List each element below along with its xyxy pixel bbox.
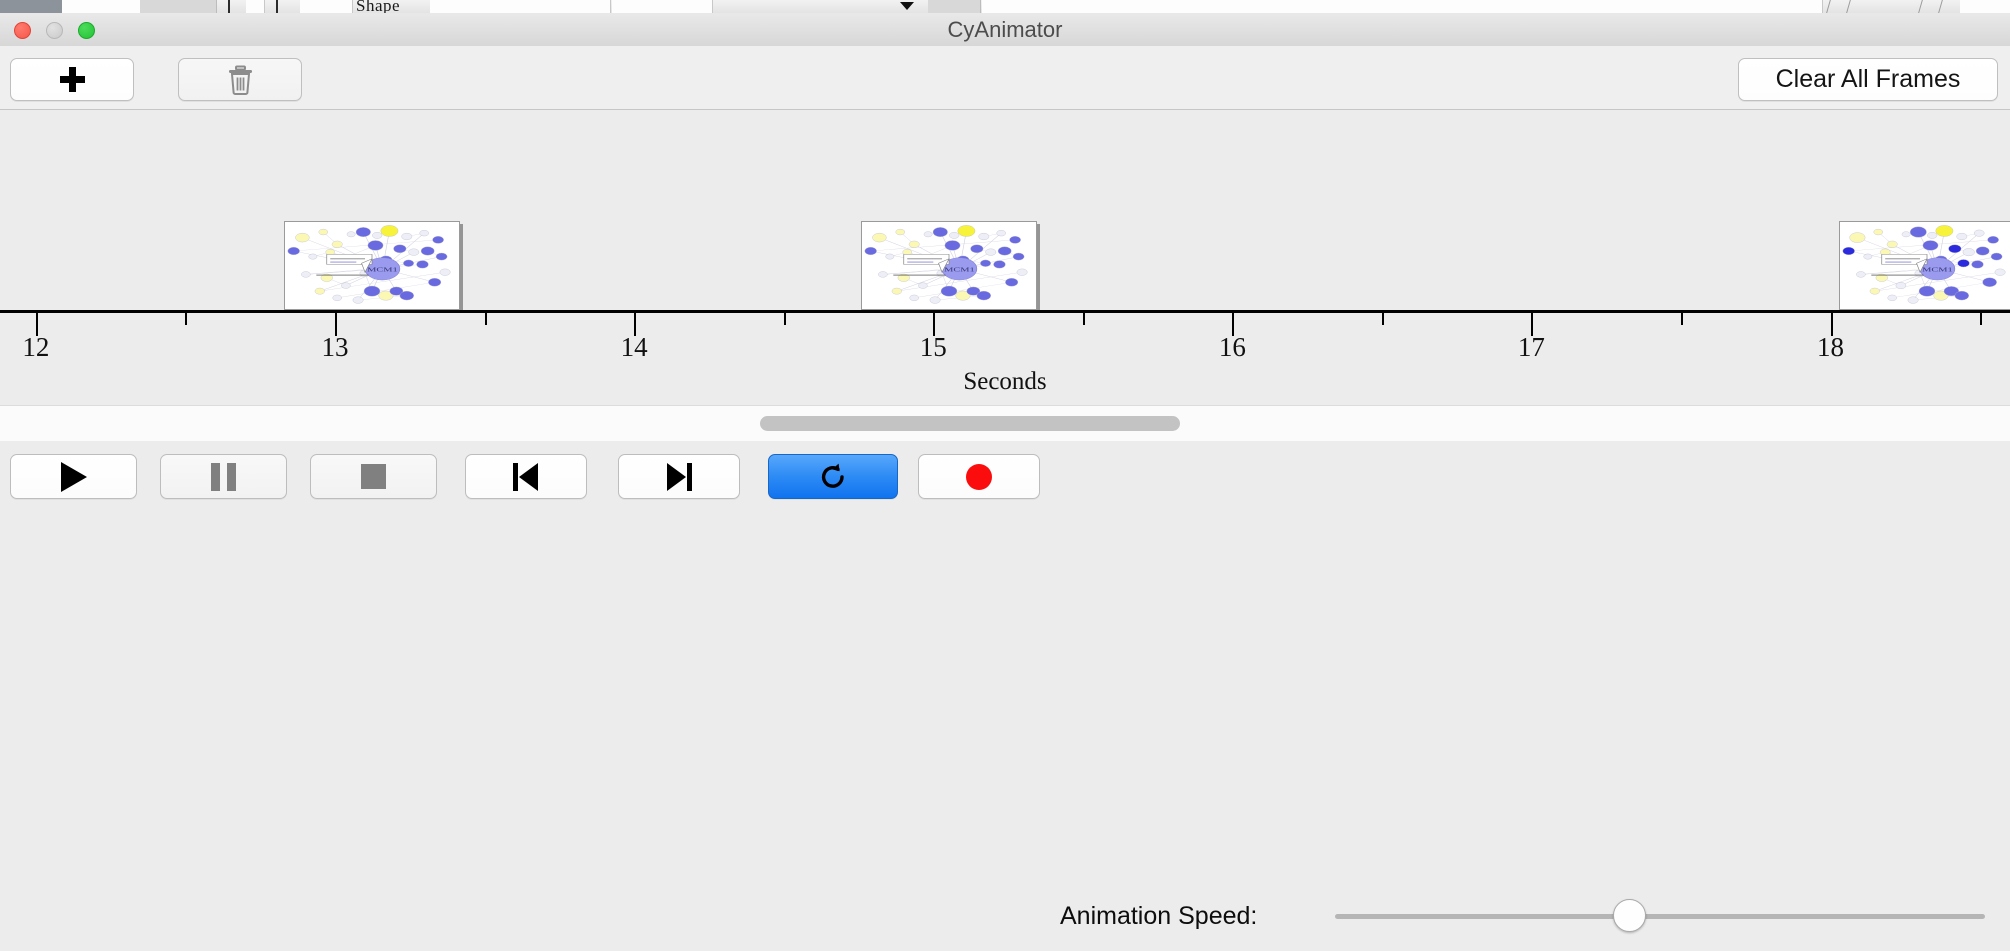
timeline-scrollbar[interactable] [0,405,2010,442]
timeline-axis [0,310,2010,313]
skip-next-icon [666,463,692,491]
axis-tick-label: 15 [920,332,947,363]
keyframe-thumbnail[interactable]: MCM1 [284,221,460,310]
axis-tick-minor [1980,313,1982,325]
animation-speed-slider[interactable] [1335,912,1985,920]
pause-icon [211,463,236,491]
timeline-panel[interactable]: MCM1MCM1MCM1 12131415161718 Seconds [0,110,2010,405]
skip-previous-icon [513,463,539,491]
svg-text:MCM1: MCM1 [944,265,975,273]
axis-tick-minor [485,313,487,325]
axis-tick-minor [1083,313,1085,325]
skip-to-start-button[interactable] [465,454,587,499]
add-frame-button[interactable] [10,58,134,101]
play-button[interactable] [10,454,137,499]
background-window-titlebar [0,0,62,13]
stop-button[interactable] [310,454,437,499]
cyanimator-window: Shape CyAnimator [0,0,2010,510]
loop-icon [818,462,848,492]
axis-tick-minor [185,313,187,325]
toolbar: Clear All Frames [0,46,2010,110]
record-button[interactable] [918,454,1040,499]
keyframe-thumbnail[interactable]: MCM1 [861,221,1037,310]
clear-all-frames-button[interactable]: Clear All Frames [1738,58,1998,101]
delete-frame-button[interactable] [178,58,302,101]
axis-tick-label: 14 [621,332,648,363]
trash-icon [227,65,254,95]
svg-text:MCM1: MCM1 [367,265,398,273]
axis-title: Seconds [0,368,2010,396]
background-window-label: Shape [356,0,400,13]
svg-text:MCM1: MCM1 [1922,265,1953,273]
record-icon [966,464,992,490]
title-bar[interactable]: CyAnimator [0,13,2010,47]
axis-tick-minor [1681,313,1683,325]
axis-tick-label: 12 [22,332,49,363]
slider-thumb[interactable] [1613,899,1646,932]
play-icon [61,462,87,492]
axis-tick-label: 17 [1518,332,1545,363]
pause-button[interactable] [160,454,287,499]
axis-tick-label: 13 [322,332,349,363]
axis-tick-minor [1382,313,1384,325]
window-title: CyAnimator [0,13,2010,46]
stop-icon [361,464,386,489]
background-window-strip: Shape [0,0,2010,13]
clear-all-frames-label: Clear All Frames [1776,65,1961,94]
slider-track [1335,914,1985,919]
animation-speed-label: Animation Speed: [1060,882,1257,951]
loop-button[interactable] [768,454,898,499]
keyframe-thumbnail[interactable]: MCM1 [1839,221,2010,310]
axis-tick-label: 18 [1817,332,1844,363]
axis-tick-label: 16 [1219,332,1246,363]
playback-bar: Animation Speed: [0,441,2010,510]
skip-to-end-button[interactable] [618,454,740,499]
plus-icon [59,66,86,93]
axis-tick-minor [784,313,786,325]
scrollbar-thumb[interactable] [760,416,1180,431]
